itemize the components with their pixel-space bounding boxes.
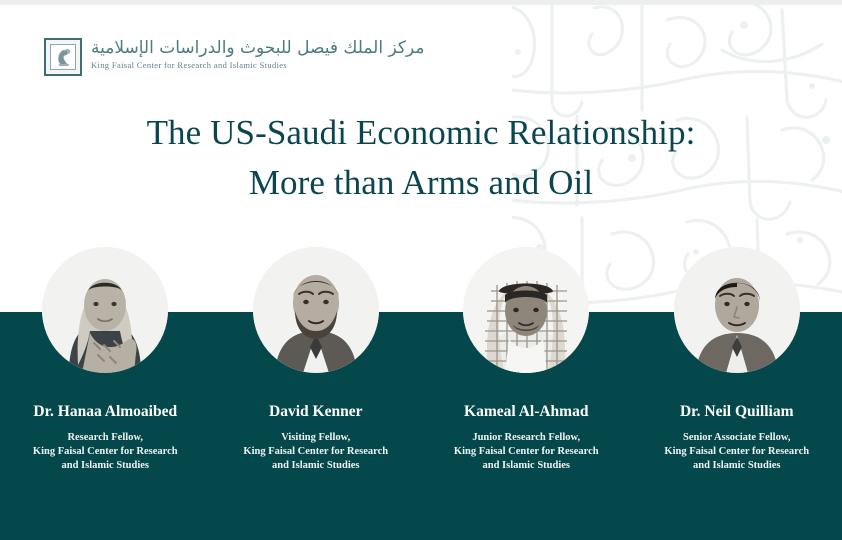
poster-title: The US-Saudi Economic Relationship: More… [0, 108, 842, 208]
title-line-2: More than Arms and Oil [0, 158, 842, 208]
speaker-role: Visiting Fellow, King Faisal Center for … [243, 431, 388, 473]
speaker-role-line-2: King Faisal Center for Research [454, 445, 599, 459]
speaker-card: Kameal Al-Ahmad Junior Research Fellow, … [428, 247, 624, 473]
speaker-name: Dr. Neil Quilliam [680, 403, 794, 421]
speaker-card: Dr. Neil Quilliam Senior Associate Fello… [639, 247, 835, 473]
speaker-role-line-2: King Faisal Center for Research [664, 445, 809, 459]
falcon-emblem-icon [44, 38, 82, 76]
speaker-role: Junior Research Fellow, King Faisal Cent… [454, 431, 599, 473]
speaker-name: David Kenner [269, 403, 362, 421]
speaker-role-line-3: and Islamic Studies [664, 459, 809, 473]
speaker-card: David Kenner Visiting Fellow, King Faisa… [218, 247, 414, 473]
speaker-role-line-2: King Faisal Center for Research [33, 445, 178, 459]
portrait-neil-quilliam [674, 247, 800, 373]
speaker-role-line-3: and Islamic Studies [454, 459, 599, 473]
speaker-list: Dr. Hanaa Almoaibed Research Fellow, Kin… [0, 247, 842, 473]
speaker-role-line-3: and Islamic Studies [243, 459, 388, 473]
speaker-role-line-2: King Faisal Center for Research [243, 445, 388, 459]
portrait-hanaa-almoaibed [42, 247, 168, 373]
top-edge-strip [0, 0, 842, 5]
speaker-role-line-1: Senior Associate Fellow, [664, 431, 809, 445]
speaker-name: Dr. Hanaa Almoaibed [33, 403, 177, 421]
portrait-kameal-al-ahmad [463, 247, 589, 373]
logo-arabic-name: مركز الملك فيصل للبحوث والدراسات الإسلام… [91, 37, 424, 59]
organization-logo: مركز الملك فيصل للبحوث والدراسات الإسلام… [44, 37, 424, 76]
title-line-1: The US-Saudi Economic Relationship: [0, 108, 842, 158]
speaker-name: Kameal Al-Ahmad [464, 403, 588, 421]
portrait-david-kenner [253, 247, 379, 373]
logo-english-name: King Faisal Center for Research and Isla… [91, 60, 424, 71]
event-poster: مركز الملك فيصل للبحوث والدراسات الإسلام… [0, 0, 842, 540]
speaker-role-line-1: Visiting Fellow, [243, 431, 388, 445]
speaker-role: Research Fellow, King Faisal Center for … [33, 431, 178, 473]
speaker-role-line-1: Junior Research Fellow, [454, 431, 599, 445]
speaker-role-line-3: and Islamic Studies [33, 459, 178, 473]
speaker-role-line-1: Research Fellow, [33, 431, 178, 445]
speaker-role: Senior Associate Fellow, King Faisal Cen… [664, 431, 809, 473]
speaker-card: Dr. Hanaa Almoaibed Research Fellow, Kin… [7, 247, 203, 473]
